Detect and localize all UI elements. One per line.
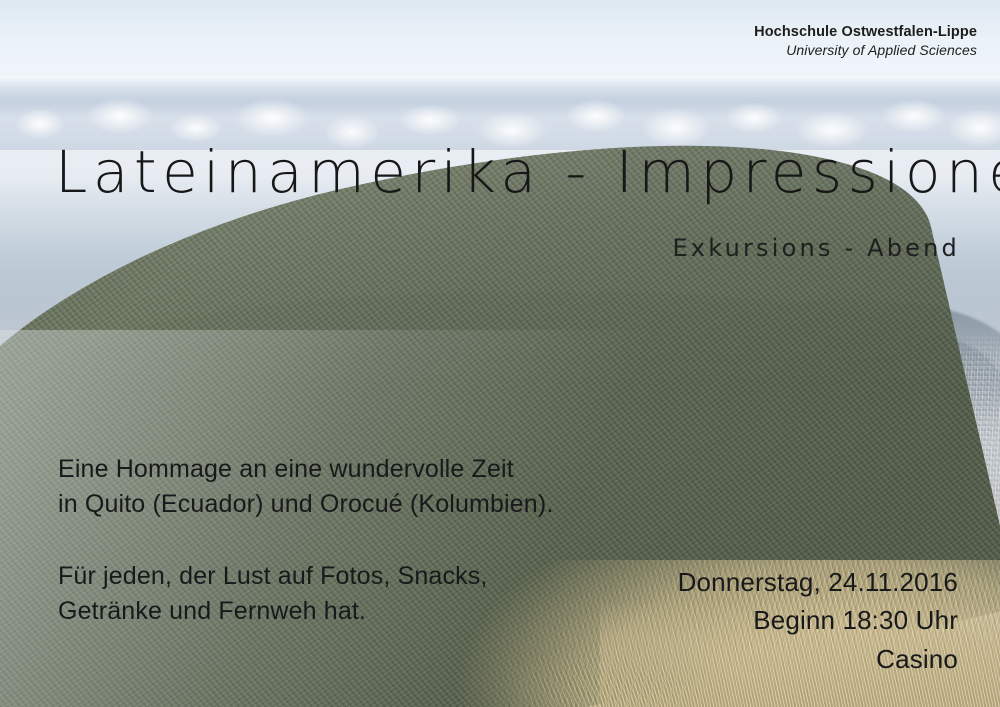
- poster-subtitle: Exkursions - Abend: [672, 236, 960, 260]
- university-logo: Hochschule Ostwestfalen-Lippe University…: [754, 24, 977, 59]
- description-line: Eine Hommage an eine wundervolle Zeit: [58, 452, 553, 487]
- poster-title: Lateinamerika - Impressionen: [55, 143, 1000, 201]
- event-date: Donnerstag, 24.11.2016: [678, 563, 958, 601]
- description-line: in Quito (Ecuador) und Orocué (Kolumbien…: [58, 487, 553, 522]
- event-poster: Hochschule Ostwestfalen-Lippe University…: [0, 0, 1000, 707]
- university-name: Hochschule Ostwestfalen-Lippe: [754, 24, 977, 42]
- description-line: Getränke und Fernweh hat.: [58, 594, 553, 629]
- description-paragraph-1: Eine Hommage an eine wundervolle Zeit in…: [58, 452, 553, 521]
- poster-content: Hochschule Ostwestfalen-Lippe University…: [0, 0, 1000, 707]
- event-time: Beginn 18:30 Uhr: [678, 601, 958, 639]
- event-location: Casino: [678, 640, 958, 678]
- university-subtitle: University of Applied Sciences: [754, 42, 977, 59]
- poster-description: Eine Hommage an eine wundervolle Zeit in…: [58, 452, 553, 628]
- description-line: Für jeden, der Lust auf Fotos, Snacks,: [58, 559, 553, 594]
- description-paragraph-2: Für jeden, der Lust auf Fotos, Snacks, G…: [58, 559, 553, 628]
- event-details: Donnerstag, 24.11.2016 Beginn 18:30 Uhr …: [678, 563, 958, 678]
